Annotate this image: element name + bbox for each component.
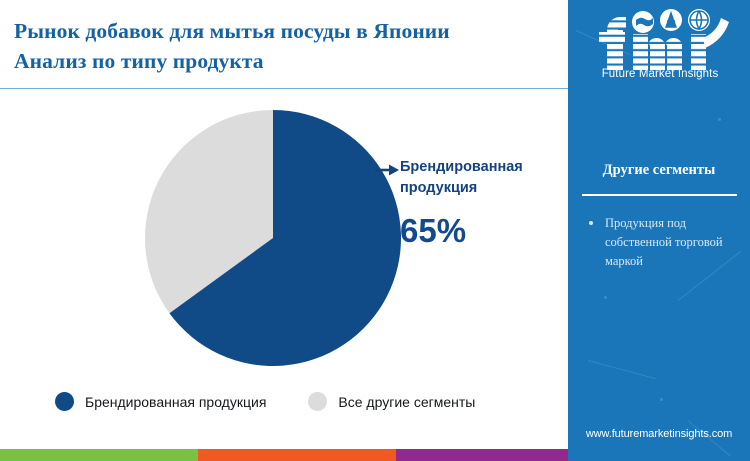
chart-legend: Брендированная продукция Все другие сегм… bbox=[55, 392, 475, 411]
bullet-icon bbox=[589, 221, 593, 225]
callout-branded-products: Брендированная продукция 65% bbox=[400, 157, 560, 249]
other-segments-title: Другие сегменты bbox=[568, 162, 750, 179]
decor-dot bbox=[660, 398, 663, 401]
decor-dot bbox=[604, 296, 607, 299]
fmi-logo-mark bbox=[585, 8, 735, 70]
legend-swatch-other bbox=[308, 392, 327, 411]
decor-line bbox=[588, 360, 656, 379]
other-segments-list: Продукция под собственной торговой марко… bbox=[584, 214, 740, 271]
title-divider bbox=[0, 88, 568, 89]
fmi-logo-tagline: Future Market Insights bbox=[585, 68, 735, 80]
decor-dot bbox=[718, 118, 721, 121]
legend-item-other[interactable]: Все другие сегменты bbox=[308, 392, 475, 411]
page-title: Рынок добавок для мытья посуды в Японии … bbox=[14, 16, 554, 76]
callout-label-line-2: продукция bbox=[400, 178, 560, 199]
fmi-logo[interactable]: Future Market Insights bbox=[585, 8, 735, 86]
pie-chart bbox=[145, 110, 401, 366]
legend-label-other: Все другие сегменты bbox=[338, 394, 475, 410]
bar-segment-purple bbox=[396, 449, 568, 461]
callout-label-line-1: Брендированная bbox=[400, 157, 560, 178]
callout-value: 65% bbox=[400, 213, 560, 249]
site-url[interactable]: www.futuremarketinsights.com bbox=[568, 428, 750, 440]
slide-root: Рынок добавок для мытья посуды в Японии … bbox=[0, 0, 750, 461]
bar-segment-orange bbox=[198, 449, 396, 461]
legend-label-branded: Брендированная продукция bbox=[85, 394, 266, 410]
other-segments-divider bbox=[582, 194, 737, 196]
list-item-label: Продукция под собственной торговой марко… bbox=[605, 216, 723, 268]
page-title-line-1: Рынок добавок для мытья посуды в Японии bbox=[14, 16, 554, 46]
bottom-color-bar bbox=[0, 449, 568, 461]
pie-chart-svg bbox=[145, 110, 401, 366]
list-item: Продукция под собственной торговой марко… bbox=[584, 214, 740, 271]
legend-item-branded[interactable]: Брендированная продукция bbox=[55, 392, 266, 411]
arrow-right-icon bbox=[375, 162, 401, 178]
side-panel: Future Market Insights Другие сегменты П… bbox=[568, 0, 750, 461]
logo-globe-icons bbox=[632, 9, 710, 33]
bar-segment-green bbox=[0, 449, 198, 461]
legend-swatch-branded bbox=[55, 392, 74, 411]
page-title-line-2: Анализ по типу продукта bbox=[14, 46, 554, 76]
